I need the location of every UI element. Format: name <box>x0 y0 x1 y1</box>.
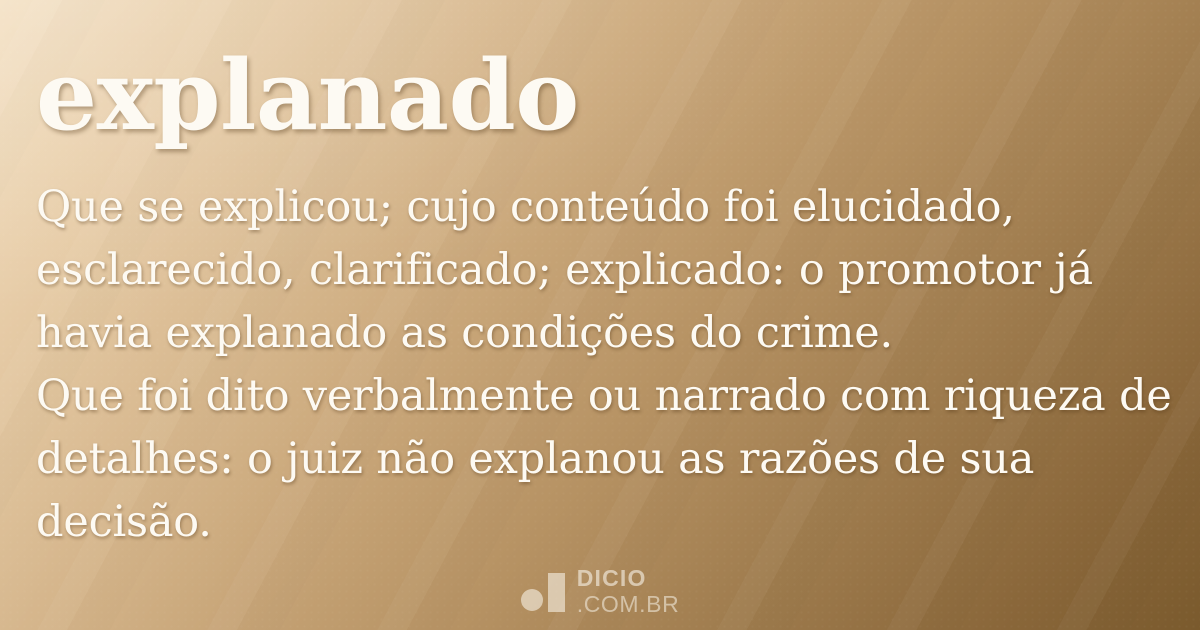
logo-domain-suffix: .COM.BR <box>577 593 680 616</box>
circle-icon <box>521 589 543 611</box>
logo-wordmark: DICIO .COM.BR <box>577 567 680 616</box>
definition-sense-2: Que foi dito verbalmente ou narrado com … <box>36 365 1176 554</box>
definition-sense-1: Que se explicou; cujo conteúdo foi eluci… <box>36 176 1176 365</box>
site-logo[interactable]: DICIO .COM.BR <box>0 567 1200 616</box>
page-title: explanado <box>36 44 579 148</box>
rectangle-icon <box>548 573 565 612</box>
logo-mark <box>521 572 565 612</box>
entry-content: explanado Que se explicou; cujo conteúdo… <box>0 0 1200 630</box>
definition-list: Que se explicou; cujo conteúdo foi eluci… <box>36 176 1176 554</box>
dictionary-entry-card: explanado Que se explicou; cujo conteúdo… <box>0 0 1200 630</box>
logo-brand-name: DICIO <box>577 567 680 590</box>
